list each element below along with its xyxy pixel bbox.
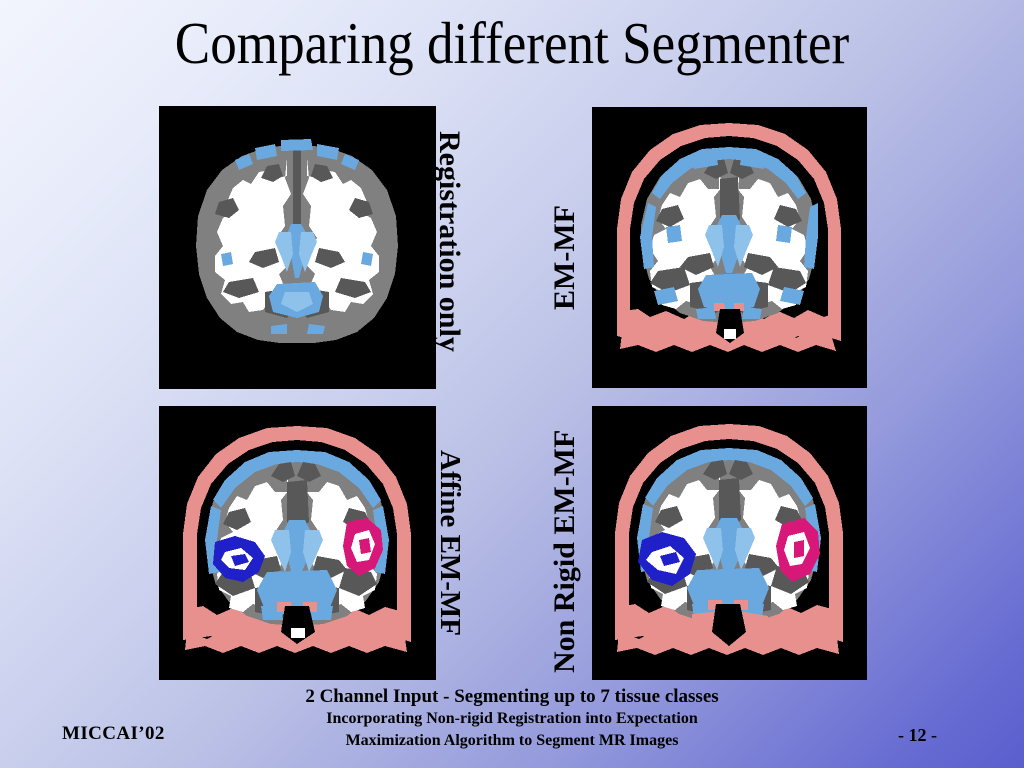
conference-tag: MICCAI’02 [62,723,165,745]
panel-label-affine-em-mf: Affine EM-MF [433,450,466,636]
panel-label-em-mf: EM-MF [548,205,582,310]
caption-line-1: 2 Channel Input - Segmenting up to 7 tis… [0,686,1024,708]
brain-image-em-mf[interactable] [592,107,867,388]
panel-label-non-rigid-em-mf: Non Rigid EM-MF [548,430,582,673]
segmentation-render-em-mf [592,107,867,388]
brain-image-registration-only[interactable] [159,106,436,389]
segmentation-render-non-rigid-em-mf [592,406,867,680]
page-number: - 12 - [898,725,937,746]
brain-image-non-rigid-em-mf[interactable] [592,406,867,680]
slide-canvas: Comparing different Segmenter [0,0,1024,768]
segmentation-render-affine-em-mf [159,406,436,680]
brain-image-affine-em-mf[interactable] [159,406,436,680]
panel-label-registration-only: Registration only [432,131,466,352]
page-title: Comparing different Segmenter [51,14,973,73]
segmentation-render-registration-only [159,106,436,389]
